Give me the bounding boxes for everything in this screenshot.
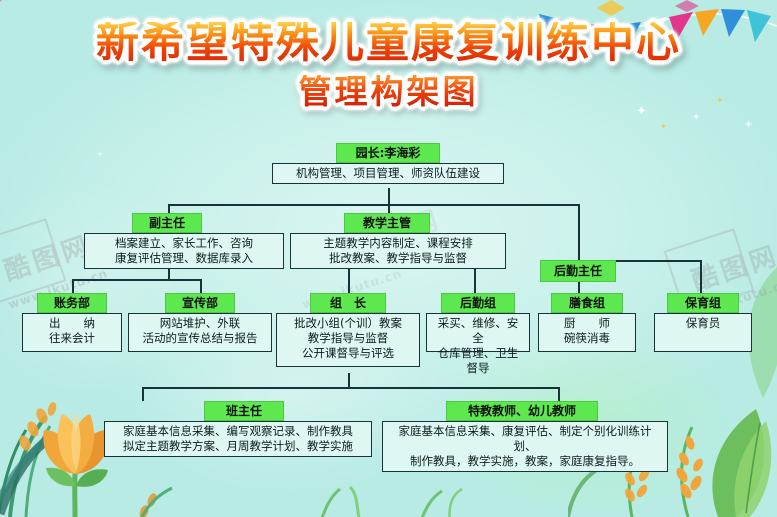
node-childcare-team[interactable]: 保育组 保育员 (654, 293, 752, 352)
node-deputy-director-header: 副主任 (132, 213, 202, 233)
node-class-tutor-header: 班主任 (204, 401, 284, 421)
node-deputy-director-body: 档案建立、家长工作、咨询 康复评估管理、数据库录入 (84, 233, 284, 269)
node-teaching-supervisor-header: 教学主管 (344, 213, 430, 233)
node-group-leader-body: 批改小组(个训）教案 教学指导与监督 公开课督导与评选 (276, 313, 420, 367)
connector (72, 279, 200, 281)
node-special-education-teacher-body: 家庭基本信息采集、康复评估、制定个别化训练计划、 制作教具，教学实施，教案，家庭… (382, 421, 668, 472)
node-logistics-team-header: 后勤组 (441, 293, 515, 313)
node-publicity-dept-body: 网站堆护、外联 活动的宣传总结与报告 (128, 313, 272, 352)
node-logistics-team[interactable]: 后勤组 采买、维修、安全 仓库管理、卫生督导 (426, 293, 530, 352)
node-finance-dept-body: 出 纳 往来会计 (22, 313, 122, 352)
node-deputy-director[interactable]: 副主任 档案建立、家长工作、咨询 康复评估管理、数据库录入 (84, 213, 284, 269)
node-special-education-teacher-header: 特教教师、幼儿教师 (446, 401, 598, 421)
node-special-education-teacher[interactable]: 特教教师、幼儿教师 家庭基本信息采集、康复评估、制定个别化训练计划、 制作教具，… (382, 401, 668, 472)
node-childcare-team-header: 保育组 (667, 293, 739, 313)
connector (578, 204, 580, 260)
connector (388, 188, 390, 204)
node-director-header: 园长:李海彩 (336, 143, 440, 163)
connector (142, 387, 558, 389)
node-logistics-director[interactable]: 后勤主任 (540, 260, 616, 282)
node-teaching-supervisor-body: 主题教学内容制定、课程安排 批改教案、教学指导与监督 (290, 233, 506, 269)
node-group-leader[interactable]: 组 长 批改小组(个训）教案 教学指导与监督 公开课督导与评选 (276, 293, 420, 367)
node-logistics-team-body: 采买、维修、安全 仓库管理、卫生督导 (426, 313, 530, 352)
node-finance-dept[interactable]: 账务部 出 纳 往来会计 (22, 293, 122, 352)
node-group-leader-header: 组 长 (310, 293, 386, 313)
node-director-body: 机构管理、项目管理、师资队伍建设 (272, 163, 504, 184)
connector (700, 260, 702, 293)
connector (168, 204, 580, 206)
node-finance-dept-header: 账务部 (37, 293, 107, 313)
poster-canvas: ✦ ✦ ✦ ✦ ✦ ✦ 新希望特殊儿童康复训练中心 管理构架图 酷图网 www.… (0, 0, 777, 517)
org-chart: 园长:李海彩 机构管理、项目管理、师资队伍建设 副主任 档案建立、家长工作、咨询… (0, 0, 777, 517)
connector (142, 387, 144, 401)
node-director[interactable]: 园长:李海彩 机构管理、项目管理、师资队伍建设 (272, 143, 504, 184)
connector (348, 373, 350, 387)
node-logistics-director-header: 后勤主任 (540, 260, 616, 282)
node-teaching-supervisor[interactable]: 教学主管 主题教学内容制定、课程安排 批改教案、教学指导与监督 (290, 213, 506, 269)
node-childcare-team-body: 保育员 (654, 313, 752, 352)
connector (72, 279, 74, 293)
node-class-tutor[interactable]: 班主任 家庭基本信息采集、编写观察记录、制作教具 拟定主题教学方案、月周教学计划… (104, 401, 372, 457)
node-meals-team-header: 膳食组 (551, 293, 623, 313)
connector (558, 387, 560, 401)
node-meals-team[interactable]: 膳食组 厨 师 碗筷消毒 (538, 293, 636, 352)
node-class-tutor-body: 家庭基本信息采集、编写观察记录、制作教具 拟定主题教学方案、月周教学计划、教学实… (104, 421, 372, 457)
node-publicity-dept-header: 宣传部 (165, 293, 235, 313)
connector (200, 279, 202, 293)
node-meals-team-body: 厨 师 碗筷消毒 (538, 313, 636, 352)
node-publicity-dept[interactable]: 宣传部 网站堆护、外联 活动的宣传总结与报告 (128, 293, 272, 352)
